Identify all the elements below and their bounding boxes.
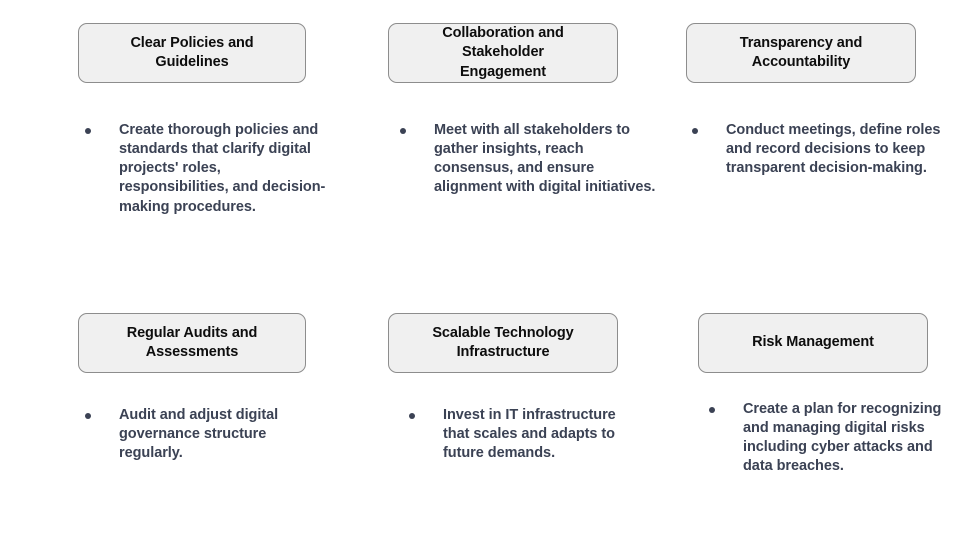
bullet-text-scalable-technology-infrastructure: Invest in IT infrastructure that scales … [443,406,621,463]
header-box-scalable-technology-infrastructure[interactable]: Scalable Technology Infrastructure [388,313,618,373]
header-label-regular-audits-and-assessments: Regular Audits and Assessments [103,324,281,362]
bullet-text-clear-policies-and-guidelines: Create thorough policies and standards t… [119,121,331,217]
bullet-text-transparency-and-accountability: Conduct meetings, define roles and recor… [726,121,952,178]
header-label-scalable-technology-infrastructure: Scalable Technology Infrastructure [413,324,593,362]
bullet-text-collaboration-and-stakeholder-engagement: Meet with all stakeholders to gather ins… [434,121,662,198]
bullet-dot-icon [709,407,715,413]
bullet-dot-icon [85,128,91,134]
bullet-text-risk-management: Create a plan for recognizing and managi… [743,400,951,477]
bullet-item-scalable-technology-infrastructure: Invest in IT infrastructure that scales … [409,406,639,463]
bullet-item-risk-management: Create a plan for recognizing and managi… [709,400,955,477]
header-box-risk-management[interactable]: Risk Management [698,313,928,373]
bullet-dot-icon [692,128,698,134]
slide-canvas: Clear Policies and Guidelines Create tho… [0,0,960,540]
header-box-clear-policies-and-guidelines[interactable]: Clear Policies and Guidelines [78,23,306,83]
bullet-item-collaboration-and-stakeholder-engagement: Meet with all stakeholders to gather ins… [400,121,666,198]
header-box-transparency-and-accountability[interactable]: Transparency and Accountability [686,23,916,83]
bullet-dot-icon [409,413,415,419]
bullet-item-clear-policies-and-guidelines: Create thorough policies and standards t… [85,121,337,217]
bullet-item-regular-audits-and-assessments: Audit and adjust digital governance stru… [85,406,337,463]
header-box-collaboration-and-stakeholder-engagement[interactable]: Collaboration and Stakeholder Engagement [388,23,618,83]
bullet-text-regular-audits-and-assessments: Audit and adjust digital governance stru… [119,406,331,463]
header-label-collaboration-and-stakeholder-engagement: Collaboration and Stakeholder Engagement [428,24,578,81]
header-label-risk-management: Risk Management [752,333,874,352]
header-label-transparency-and-accountability: Transparency and Accountability [715,34,887,72]
bullet-item-transparency-and-accountability: Conduct meetings, define roles and recor… [692,121,958,178]
header-label-clear-policies-and-guidelines: Clear Policies and Guidelines [107,34,277,72]
bullet-dot-icon [400,128,406,134]
header-box-regular-audits-and-assessments[interactable]: Regular Audits and Assessments [78,313,306,373]
bullet-dot-icon [85,413,91,419]
